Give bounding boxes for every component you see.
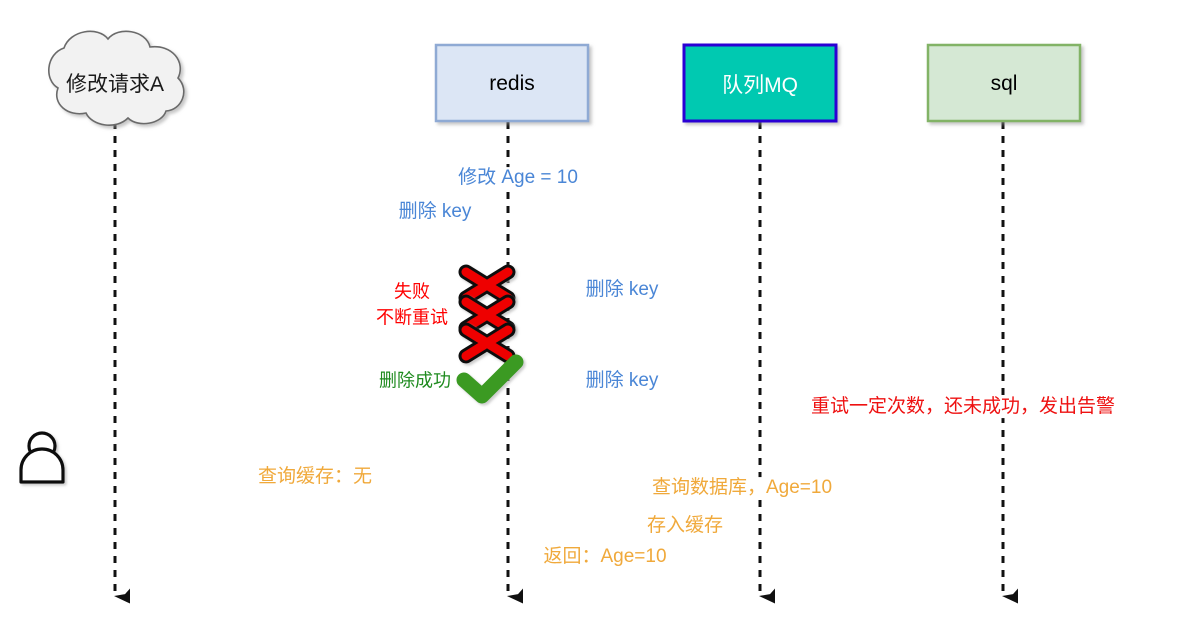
message-label-m1: 修改 Age = 10 bbox=[455, 167, 581, 189]
user-actor-icon bbox=[21, 433, 63, 482]
message-label-m7: 删除 key bbox=[583, 370, 662, 392]
message-label-m4: 删除 key bbox=[583, 279, 662, 301]
message-arrows bbox=[44, 178, 1186, 557]
participant-label-sql: sql bbox=[991, 72, 1018, 96]
message-label-m11: 存入缓存 bbox=[644, 515, 726, 537]
message-label-m8: 重试一定次数，还未成功，发出告警 bbox=[808, 396, 1118, 418]
sequence-diagram-canvas: 修改请求A redis 队列MQ sql 修改 Age = 10 删除 key … bbox=[0, 0, 1202, 636]
message-label-m2: 删除 key bbox=[396, 201, 475, 223]
participant-label-mq: 队列MQ bbox=[722, 69, 798, 99]
diagram-svg bbox=[0, 0, 1202, 636]
fail-note: 失败 bbox=[391, 282, 433, 303]
participant-label-redis: redis bbox=[489, 72, 535, 96]
x-mark-3 bbox=[466, 330, 508, 356]
x-mark-1 bbox=[466, 272, 508, 298]
retry-note: 不断重试 bbox=[373, 308, 451, 329]
delete-success-note: 删除成功 bbox=[376, 371, 454, 392]
x-mark-2 bbox=[466, 302, 508, 328]
participant-label-request-cloud: 修改请求A bbox=[66, 68, 164, 98]
message-label-m12: 返回：Age=10 bbox=[540, 546, 669, 568]
message-label-m9: 查询缓存：无 bbox=[255, 466, 375, 488]
message-label-m10: 查询数据库，Age=10 bbox=[649, 477, 835, 499]
